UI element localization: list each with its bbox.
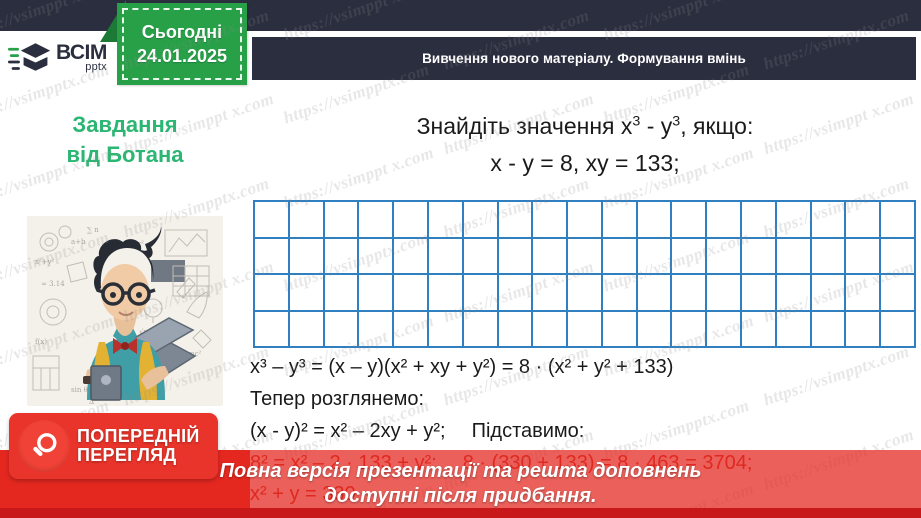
grid-cell[interactable] xyxy=(359,275,394,312)
grid-cell[interactable] xyxy=(707,202,742,239)
grid-cell[interactable] xyxy=(603,202,638,239)
grid-cell[interactable] xyxy=(846,312,881,349)
grid-cell[interactable] xyxy=(568,239,603,276)
grid-cell[interactable] xyxy=(325,275,360,312)
grid-cell[interactable] xyxy=(464,239,499,276)
task-text-mid: - y xyxy=(640,113,672,139)
grid-cell[interactable] xyxy=(742,239,777,276)
date-badge-label: Сьогодні xyxy=(142,22,222,43)
grid-cell[interactable] xyxy=(672,275,707,312)
grid-cell[interactable] xyxy=(777,239,812,276)
preview-label-line-1: ПОПЕРЕДНІЙ xyxy=(77,427,200,446)
grid-cell[interactable] xyxy=(499,312,534,349)
grid-cell[interactable] xyxy=(290,275,325,312)
grid-cell[interactable] xyxy=(394,239,429,276)
grid-cell[interactable] xyxy=(464,312,499,349)
grid-cell[interactable] xyxy=(603,275,638,312)
date-badge: Сьогодні 24.01.2025 xyxy=(117,3,247,85)
grid-cell[interactable] xyxy=(359,239,394,276)
grid-cell[interactable] xyxy=(707,312,742,349)
grid-cell[interactable] xyxy=(846,239,881,276)
grid-cell[interactable] xyxy=(290,239,325,276)
grid-cell[interactable] xyxy=(290,202,325,239)
grid-cell[interactable] xyxy=(429,312,464,349)
watermark-text: https://vsimpptx.com xyxy=(761,342,912,411)
answer-grid[interactable] xyxy=(253,200,916,348)
grid-cell[interactable] xyxy=(638,239,673,276)
grid-cell[interactable] xyxy=(568,312,603,349)
grid-cell[interactable] xyxy=(777,312,812,349)
grid-cell[interactable] xyxy=(429,275,464,312)
task-text-post: , якщо: xyxy=(680,113,753,139)
grid-cell[interactable] xyxy=(255,312,290,349)
svg-text:≈ 3.14: ≈ 3.14 xyxy=(41,280,65,288)
grid-cell[interactable] xyxy=(881,312,916,349)
grid-cell[interactable] xyxy=(533,202,568,239)
task-text-pre: Знайдіть значення x xyxy=(417,113,633,139)
svg-text:sin θ: sin θ xyxy=(71,386,88,394)
grid-cell[interactable] xyxy=(881,202,916,239)
left-panel-title-line-1: Завдання xyxy=(14,110,236,140)
grid-cell[interactable] xyxy=(533,239,568,276)
svg-text:∑ n: ∑ n xyxy=(87,226,99,234)
solution-line-3-a: (x - y)² = x² – 2xy + y²; xyxy=(250,420,446,442)
task-statement-line-1: Знайдіть значення x3 - y3, якщо: xyxy=(252,113,918,140)
grid-cell[interactable] xyxy=(742,312,777,349)
logo-name: ВСІМ xyxy=(56,42,107,63)
solution-line-1: x³ – y³ = (x – y)(x² + xy + y²) = 8 · (x… xyxy=(250,356,673,379)
grid-cell[interactable] xyxy=(533,275,568,312)
header-bar: Вивчення нового матеріалу. Формування вм… xyxy=(252,37,916,80)
grid-cell[interactable] xyxy=(359,202,394,239)
grid-cell[interactable] xyxy=(812,275,847,312)
grid-cell[interactable] xyxy=(325,239,360,276)
grid-cell[interactable] xyxy=(672,239,707,276)
magnifier-icon xyxy=(18,420,70,472)
grid-cell[interactable] xyxy=(429,202,464,239)
grid-cell[interactable] xyxy=(533,312,568,349)
grid-cell[interactable] xyxy=(325,312,360,349)
grid-cell[interactable] xyxy=(464,202,499,239)
grid-cell[interactable] xyxy=(568,202,603,239)
grid-cell[interactable] xyxy=(777,202,812,239)
svg-text:a+b: a+b xyxy=(71,238,86,246)
svg-text:f(x): f(x) xyxy=(35,338,47,346)
grid-cell[interactable] xyxy=(499,239,534,276)
grid-cell[interactable] xyxy=(394,202,429,239)
grid-cell[interactable] xyxy=(881,275,916,312)
slide-root: ВСІМ pptx Сьогодні 24.01.2025 Вивчення н… xyxy=(0,0,921,518)
grid-cell[interactable] xyxy=(255,239,290,276)
overlay-line-2: доступні після придбання. xyxy=(324,485,596,508)
grid-cell[interactable] xyxy=(777,275,812,312)
grid-cell[interactable] xyxy=(812,202,847,239)
logo-wordmark: ВСІМ pptx xyxy=(56,42,107,73)
solution-line-2: Тепер розглянемо: xyxy=(250,388,424,411)
grid-cell[interactable] xyxy=(568,275,603,312)
grid-cell[interactable] xyxy=(707,275,742,312)
task-statement-line-2: x - y = 8, xy = 133; xyxy=(252,150,918,177)
grid-cell[interactable] xyxy=(394,275,429,312)
grid-cell[interactable] xyxy=(742,275,777,312)
grid-cell[interactable] xyxy=(359,312,394,349)
left-panel-title-line-2: від Ботана xyxy=(14,140,236,170)
grid-cell[interactable] xyxy=(603,312,638,349)
svg-text:x²+y²: x²+y² xyxy=(35,258,55,266)
grid-cell[interactable] xyxy=(464,275,499,312)
grid-cell[interactable] xyxy=(255,275,290,312)
overlay-bottom-strip xyxy=(0,508,921,518)
solution-line-3: (x - y)² = x² – 2xy + y²;Підставимо: xyxy=(250,420,584,443)
left-panel-title: Завдання від Ботана xyxy=(14,110,236,169)
grid-cell[interactable] xyxy=(499,275,534,312)
grid-cell[interactable] xyxy=(846,202,881,239)
date-badge-date: 24.01.2025 xyxy=(137,46,227,67)
preview-button-label: ПОПЕРЕДНІЙ ПЕРЕГЛЯД xyxy=(77,427,200,465)
grid-cell[interactable] xyxy=(742,202,777,239)
grid-cell[interactable] xyxy=(638,202,673,239)
grid-cell[interactable] xyxy=(499,202,534,239)
grid-cell[interactable] xyxy=(255,202,290,239)
nerd-student-with-laptop-illustration: x²+y²a+b ∑ nπ r² √x∫ dx f(x)sin θ E=mc²≈… xyxy=(27,216,223,406)
grid-cell[interactable] xyxy=(429,239,464,276)
preview-label-line-2: ПЕРЕГЛЯД xyxy=(77,446,200,465)
grid-cell[interactable] xyxy=(812,239,847,276)
grid-cell[interactable] xyxy=(707,239,742,276)
grid-cell[interactable] xyxy=(672,202,707,239)
grid-cell[interactable] xyxy=(638,312,673,349)
grid-cell[interactable] xyxy=(881,239,916,276)
grid-cell[interactable] xyxy=(638,275,673,312)
grid-cell[interactable] xyxy=(290,312,325,349)
grid-cell[interactable] xyxy=(846,275,881,312)
grid-cell[interactable] xyxy=(603,239,638,276)
grid-cell[interactable] xyxy=(812,312,847,349)
preview-button[interactable]: ПОПЕРЕДНІЙ ПЕРЕГЛЯД xyxy=(9,413,218,479)
grid-cell[interactable] xyxy=(672,312,707,349)
graduation-cap-icon xyxy=(8,38,52,76)
overlay-line-1: Повна версія презентації та решта доповн… xyxy=(220,460,702,483)
solution-line-3-b: Підставимо: xyxy=(472,420,585,442)
grid-cell[interactable] xyxy=(394,312,429,349)
grid-cell[interactable] xyxy=(325,202,360,239)
header-title: Вивчення нового матеріалу. Формування вм… xyxy=(422,51,746,66)
task-exponent-2: 3 xyxy=(672,113,680,129)
